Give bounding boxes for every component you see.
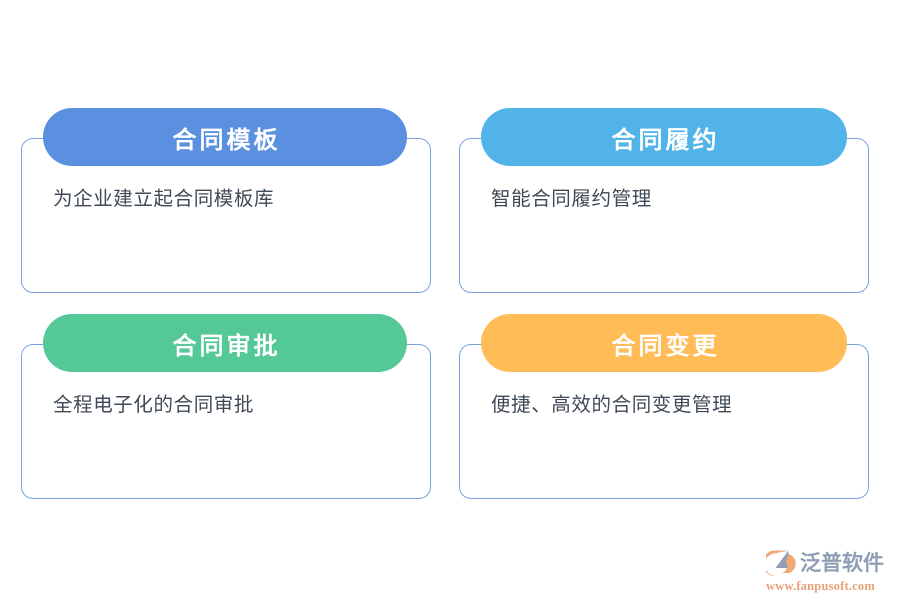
feature-card-title-pill-contract-change[interactable]: 合同变更 [481, 314, 847, 372]
feature-card-description: 智能合同履约管理 [491, 186, 652, 212]
brand-watermark: 泛普软件 www.fanpusoft.com [766, 548, 896, 596]
feature-card-description: 便捷、高效的合同变更管理 [491, 392, 732, 418]
feature-card-title-pill-contract-approval[interactable]: 合同审批 [43, 314, 407, 372]
feature-card-description: 为企业建立起合同模板库 [53, 186, 274, 212]
feature-card-description: 全程电子化的合同审批 [53, 392, 254, 418]
feature-card-grid: 为企业建立起合同模板库 合同模板 智能合同履约管理 合同履约 全程电子化的合同审… [0, 0, 900, 520]
brand-logo-row: 泛普软件 [766, 548, 896, 578]
feature-card-title-pill-contract-performance[interactable]: 合同履约 [481, 108, 847, 166]
brand-url: www.fanpusoft.com [766, 579, 896, 594]
feature-grid-page: 为企业建立起合同模板库 合同模板 智能合同履约管理 合同履约 全程电子化的合同审… [0, 0, 900, 600]
feature-card-title-pill-contract-template[interactable]: 合同模板 [43, 108, 407, 166]
brand-name: 泛普软件 [800, 548, 884, 578]
fanpu-swoosh-logo-icon [766, 548, 798, 578]
